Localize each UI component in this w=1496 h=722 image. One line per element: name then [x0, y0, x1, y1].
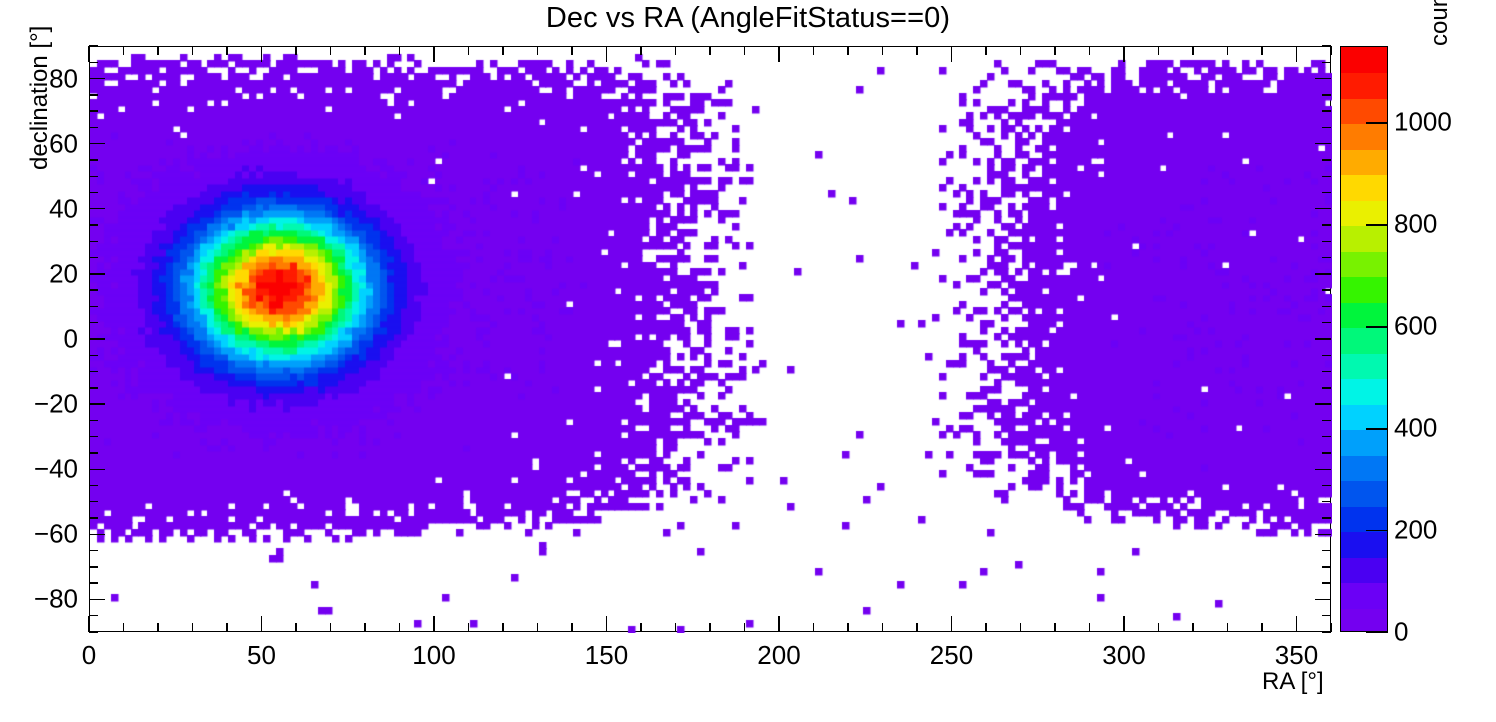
x-tick-top [1296, 46, 1297, 62]
x-tick-top [1054, 46, 1055, 55]
y-tick-right [1322, 192, 1331, 193]
x-tick-top [813, 46, 814, 55]
x-tick [192, 623, 193, 632]
x-tick-top [226, 46, 227, 55]
y-tick-right [1315, 208, 1331, 209]
y-tick [89, 582, 98, 583]
colorbar-tick-label: 400 [1394, 413, 1437, 444]
colorbar-band [1341, 251, 1387, 277]
y-tick-label: −20 [10, 389, 78, 420]
y-tick-right [1322, 224, 1331, 225]
colorbar-band [1341, 302, 1387, 328]
colorbar-band [1341, 378, 1387, 404]
y-tick-right [1322, 62, 1331, 63]
colorbar [1340, 46, 1388, 632]
x-tick [709, 623, 710, 632]
x-tick [537, 623, 538, 632]
x-tick [916, 623, 917, 632]
colorbar-band [1341, 47, 1387, 73]
x-tick-top [399, 46, 400, 55]
colorbar-band [1341, 455, 1387, 481]
y-tick [89, 273, 105, 274]
y-axis-title: declination [°] [26, 26, 54, 170]
y-tick [89, 127, 98, 128]
x-tick [1020, 623, 1021, 632]
y-tick-right [1322, 436, 1331, 437]
x-tick-top [1227, 46, 1228, 55]
y-tick-right [1322, 387, 1331, 388]
x-tick [1192, 623, 1193, 632]
y-tick-right [1315, 469, 1331, 470]
page-title: Dec vs RA (AngleFitStatus==0) [0, 2, 1496, 35]
y-tick [89, 338, 105, 339]
y-tick [89, 387, 98, 388]
y-tick [89, 208, 105, 209]
x-tick [157, 623, 158, 632]
y-tick-label: −80 [10, 584, 78, 615]
y-tick [89, 159, 98, 160]
x-tick [606, 616, 607, 632]
x-tick [744, 623, 745, 632]
y-tick [89, 224, 98, 225]
y-tick [89, 517, 98, 518]
colorbar-band [1341, 72, 1387, 98]
colorbar-band [1341, 225, 1387, 251]
x-tick-label: 100 [412, 640, 455, 671]
x-tick-top [261, 46, 262, 62]
x-tick [571, 623, 572, 632]
y-tick-right [1322, 615, 1331, 616]
colorbar-tick-label: 0 [1394, 617, 1408, 648]
x-tick-top [778, 46, 779, 62]
y-tick [89, 289, 98, 290]
x-tick-top [916, 46, 917, 55]
y-tick [89, 94, 98, 95]
y-tick-right [1322, 566, 1331, 567]
x-tick-top [502, 46, 503, 55]
x-tick-top [744, 46, 745, 55]
colorbar-band [1341, 608, 1387, 632]
y-tick [89, 420, 98, 421]
y-tick [89, 599, 105, 600]
colorbar-band [1341, 429, 1387, 455]
y-tick-right [1315, 143, 1331, 144]
x-tick [640, 623, 641, 632]
y-tick-right [1322, 485, 1331, 486]
histogram-heatmap [90, 47, 1332, 633]
x-tick-label: 350 [1275, 640, 1318, 671]
colorbar-tick [1366, 428, 1388, 429]
x-tick [847, 623, 848, 632]
y-tick [89, 45, 98, 46]
y-tick [89, 241, 98, 242]
y-tick-right [1322, 127, 1331, 128]
x-tick [951, 616, 952, 632]
colorbar-tick [1366, 224, 1388, 225]
y-tick-right [1322, 355, 1331, 356]
x-tick [468, 623, 469, 632]
colorbar-tick-label: 600 [1394, 311, 1437, 342]
x-tick-top [606, 46, 607, 62]
x-tick-top [640, 46, 641, 55]
x-tick [399, 623, 400, 632]
x-tick [813, 623, 814, 632]
y-tick-right [1315, 338, 1331, 339]
x-tick [330, 623, 331, 632]
x-tick [261, 616, 262, 632]
x-tick-label: 200 [757, 640, 800, 671]
y-tick [89, 176, 98, 177]
y-tick-right [1322, 110, 1331, 111]
y-tick-label: −40 [10, 454, 78, 485]
y-tick-label: 20 [10, 258, 78, 289]
y-tick-right [1315, 534, 1331, 535]
y-tick-right [1322, 241, 1331, 242]
y-tick [89, 452, 98, 453]
x-tick [1054, 623, 1055, 632]
y-tick-right [1322, 257, 1331, 258]
y-tick [89, 615, 98, 616]
x-tick-top [985, 46, 986, 55]
x-tick-top [1123, 46, 1124, 62]
x-tick-label: 300 [1102, 640, 1145, 671]
x-tick-top [1330, 46, 1331, 55]
x-tick-top [295, 46, 296, 55]
y-tick-right [1322, 517, 1331, 518]
y-tick [89, 192, 98, 193]
colorbar-band [1341, 557, 1387, 583]
x-tick-label: 150 [585, 640, 628, 671]
x-tick-top [364, 46, 365, 55]
x-axis-title: RA [°] [1262, 668, 1324, 696]
y-tick-label: 40 [10, 193, 78, 224]
y-tick-right [1322, 420, 1331, 421]
x-tick [364, 623, 365, 632]
colorbar-band [1341, 582, 1387, 608]
y-tick-right [1322, 176, 1331, 177]
colorbar-tick [1366, 632, 1388, 633]
y-tick [89, 143, 105, 144]
y-tick-right [1322, 582, 1331, 583]
x-tick-top [1020, 46, 1021, 55]
y-tick-right [1322, 452, 1331, 453]
y-tick [89, 78, 105, 79]
colorbar-tick-label: 800 [1394, 209, 1437, 240]
colorbar-band [1341, 404, 1387, 430]
x-tick-top [709, 46, 710, 55]
plot-frame [89, 46, 1331, 632]
x-tick [1158, 623, 1159, 632]
colorbar-band [1341, 149, 1387, 175]
colorbar-tick [1366, 122, 1388, 123]
x-tick [1123, 616, 1124, 632]
x-tick-top [330, 46, 331, 55]
y-tick [89, 485, 98, 486]
x-tick-label: 50 [247, 640, 276, 671]
y-tick-right [1322, 501, 1331, 502]
y-tick [89, 403, 105, 404]
y-tick [89, 110, 98, 111]
x-tick [1227, 623, 1228, 632]
y-tick [89, 534, 105, 535]
x-tick-top [847, 46, 848, 55]
y-tick-label: −60 [10, 519, 78, 550]
x-tick [226, 623, 227, 632]
x-tick [433, 616, 434, 632]
y-tick-right [1322, 289, 1331, 290]
y-tick [89, 550, 98, 551]
y-tick-right [1322, 94, 1331, 95]
x-tick-top [1089, 46, 1090, 55]
x-tick-top [1192, 46, 1193, 55]
x-tick [295, 623, 296, 632]
y-tick-right [1322, 322, 1331, 323]
colorbar-band [1341, 327, 1387, 353]
colorbar-band [1341, 123, 1387, 149]
colorbar-band [1341, 531, 1387, 557]
y-tick-right [1315, 78, 1331, 79]
x-tick [1296, 616, 1297, 632]
colorbar-band [1341, 506, 1387, 532]
colorbar-band [1341, 200, 1387, 226]
y-tick [89, 322, 98, 323]
x-tick [882, 623, 883, 632]
y-tick-right [1315, 599, 1331, 600]
colorbar-title: count [1426, 0, 1454, 46]
colorbar-band [1341, 174, 1387, 200]
y-tick-right [1315, 273, 1331, 274]
y-tick [89, 371, 98, 372]
x-tick [675, 623, 676, 632]
colorbar-band [1341, 98, 1387, 124]
x-tick-top [537, 46, 538, 55]
x-tick [1261, 623, 1262, 632]
root-plot-canvas: Dec vs RA (AngleFitStatus==0) 0501001502… [0, 0, 1496, 722]
y-tick [89, 62, 98, 63]
y-tick [89, 436, 98, 437]
y-tick-right [1322, 371, 1331, 372]
y-tick [89, 306, 98, 307]
x-tick-top [1261, 46, 1262, 55]
colorbar-tick [1366, 530, 1388, 531]
y-tick [89, 355, 98, 356]
x-tick [502, 623, 503, 632]
x-tick [985, 623, 986, 632]
x-tick-top [192, 46, 193, 55]
y-tick-label: 0 [10, 324, 78, 355]
colorbar-tick-label: 200 [1394, 515, 1437, 546]
x-tick [778, 616, 779, 632]
x-tick [88, 616, 89, 632]
x-tick-top [951, 46, 952, 62]
colorbar-band [1341, 480, 1387, 506]
y-tick-right [1322, 159, 1331, 160]
y-tick [89, 566, 98, 567]
y-tick [89, 631, 98, 632]
x-tick-top [882, 46, 883, 55]
y-tick-right [1315, 403, 1331, 404]
x-tick-top [123, 46, 124, 55]
x-tick [123, 623, 124, 632]
y-tick [89, 469, 105, 470]
x-tick-top [88, 46, 89, 62]
colorbar-tick-label: 1000 [1394, 107, 1452, 138]
x-tick-label: 250 [930, 640, 973, 671]
colorbar-band [1341, 276, 1387, 302]
x-tick-top [468, 46, 469, 55]
y-tick-right [1322, 631, 1331, 632]
colorbar-band [1341, 353, 1387, 379]
x-tick-top [571, 46, 572, 55]
y-tick-right [1322, 45, 1331, 46]
y-tick [89, 501, 98, 502]
x-tick-top [433, 46, 434, 62]
x-tick-top [1158, 46, 1159, 55]
y-tick [89, 257, 98, 258]
y-tick-right [1322, 550, 1331, 551]
y-tick-right [1322, 306, 1331, 307]
colorbar-tick [1366, 326, 1388, 327]
x-tick-top [157, 46, 158, 55]
x-tick-label: 0 [82, 640, 96, 671]
x-tick-top [675, 46, 676, 55]
x-tick [1089, 623, 1090, 632]
